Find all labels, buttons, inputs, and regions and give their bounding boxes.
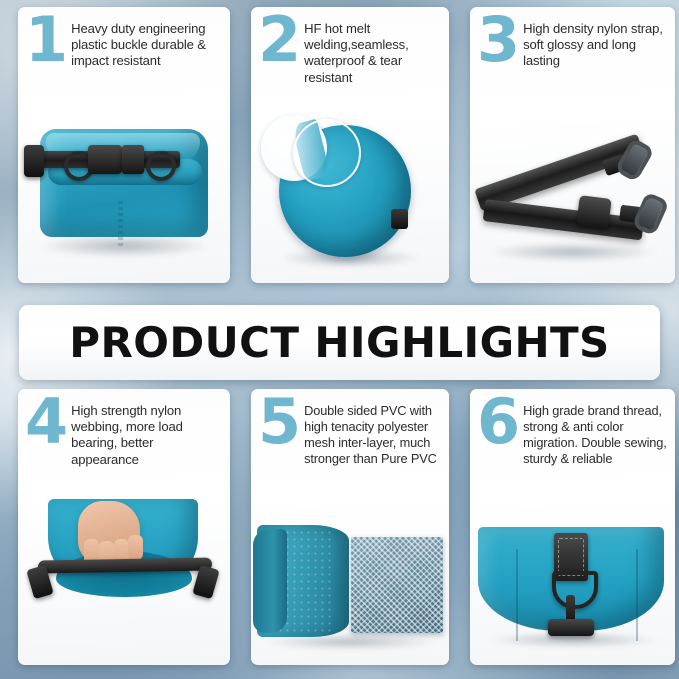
feature-card-2-head: 2 HF hot melt welding,seamless, waterpro… (251, 7, 449, 86)
product-shadow (264, 635, 436, 649)
feature-card-1: 1 Heavy duty engineering plastic buckle … (18, 7, 230, 283)
feature-text-1: Heavy duty engineering plastic buckle du… (71, 17, 222, 70)
feature-image-5 (251, 507, 449, 665)
feature-card-5: 5 Double sided PVC with high tenacity po… (251, 389, 449, 665)
feature-card-1-head: 1 Heavy duty engineering plastic buckle … (18, 7, 230, 70)
product-shadow (489, 243, 657, 261)
feature-text-3: High density nylon strap, soft glossy an… (523, 17, 667, 70)
feature-card-2: 2 HF hot melt welding,seamless, waterpro… (251, 7, 449, 283)
feature-number-2: 2 (258, 15, 304, 84)
feature-image-3 (470, 111, 675, 283)
feature-row-top: 1 Heavy duty engineering plastic buckle … (0, 7, 679, 290)
bag-crease (118, 201, 123, 249)
stitch-seam-right (636, 549, 638, 641)
magnifier-ring-icon (293, 119, 361, 187)
feature-number-1: 1 (25, 15, 71, 68)
feature-image-1 (18, 111, 230, 283)
feature-text-6: High grade brand thread, strong & anti c… (523, 399, 667, 466)
banner-title: PRODUCT HIGHLIGHTS (69, 318, 609, 367)
feature-number-3: 3 (477, 15, 523, 68)
feature-card-6-head: 6 High grade brand thread, strong & anti… (470, 389, 675, 466)
feature-image-4 (18, 493, 230, 665)
product-highlights-banner: PRODUCT HIGHLIGHTS (19, 305, 660, 380)
feature-number-4: 4 (25, 397, 71, 466)
bottom-clip (548, 619, 594, 636)
feature-number-5: 5 (258, 397, 304, 464)
pvc-sheet-fold (253, 529, 287, 633)
side-clip (24, 145, 44, 177)
strap-ring-right (146, 151, 176, 181)
plastic-buckle-male (88, 145, 122, 174)
plastic-buckle-female (122, 145, 144, 174)
feature-card-3: 3 High density nylon strap, soft glossy … (470, 7, 675, 283)
feature-card-4: 4 High strength nylon webbing, more load… (18, 389, 230, 665)
feature-text-2: HF hot melt welding,seamless, waterproof… (304, 17, 441, 86)
feature-card-3-head: 3 High density nylon strap, soft glossy … (470, 7, 675, 70)
finger (128, 535, 143, 561)
feature-image-2 (251, 111, 449, 283)
feature-card-6: 6 High grade brand thread, strong & anti… (470, 389, 675, 665)
bag-tab (391, 209, 408, 229)
feature-card-5-head: 5 Double sided PVC with high tenacity po… (251, 389, 449, 466)
feature-text-5: Double sided PVC with high tenacity poly… (304, 399, 441, 466)
feature-number-6: 6 (477, 397, 523, 464)
strap-adjuster-slider (576, 195, 611, 229)
product-highlights-infographic: 1 Heavy duty engineering plastic buckle … (0, 0, 679, 679)
feature-image-6 (470, 507, 675, 665)
feature-row-bottom: 4 High strength nylon webbing, more load… (0, 389, 679, 672)
product-shadow (39, 235, 209, 257)
feature-card-4-head: 4 High strength nylon webbing, more load… (18, 389, 230, 468)
polyester-mesh-swatch (351, 537, 443, 633)
stitch-seam-left (516, 549, 518, 641)
feature-text-4: High strength nylon webbing, more load b… (71, 399, 222, 468)
